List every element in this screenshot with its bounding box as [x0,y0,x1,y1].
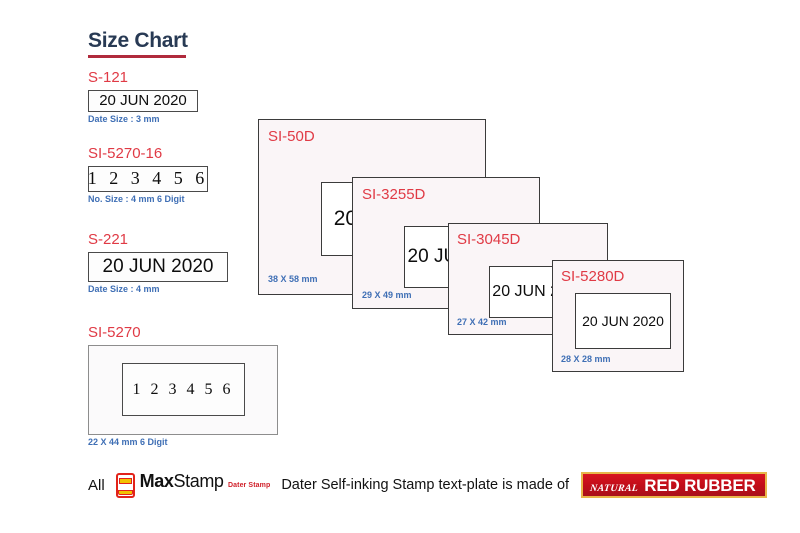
title-underline [88,55,186,58]
stamp-icon-base [118,490,133,495]
stamp-impression-s121: 20 JUN 2020 [88,90,198,112]
footer: All MaxStamp Dater Stamp Dater Self-inki… [88,468,767,502]
stamp-impression-si5270-16: 1 2 3 4 5 6 [88,166,208,192]
impression-text: 20 JUN 2020 [99,92,187,109]
page-title-block: Size Chart [88,30,188,58]
model-label-si5270: SI-5270 [88,325,278,342]
maxstamp-logo: MaxStamp Dater Stamp [116,472,271,498]
card-label-si5280d: SI-5280D [561,269,624,284]
stamp-plate-si5270: 1 2 3 4 5 6 [88,345,278,435]
maxstamp-name: MaxStamp [140,471,224,491]
brand-max: Max [140,471,174,491]
impression-text: 1 2 3 4 5 6 [88,168,209,189]
page-title: Size Chart [88,30,188,51]
size-note-s221: Date Size : 4 mm [88,284,228,294]
footer-prefix: All [88,477,105,494]
model-block-si5270: SI-5270 1 2 3 4 5 6 22 X 44 mm 6 Digit [88,325,278,447]
card-dimension-si3045d: 27 X 42 mm [457,317,507,327]
stamp-impression-si5270: 1 2 3 4 5 6 [122,363,245,416]
brand-stamp: Stamp [174,471,224,491]
red-rubber-banner: NATURAL RED RUBBER [581,472,767,498]
card-dimension-si3255d: 29 X 49 mm [362,290,412,300]
maxstamp-wordmark: MaxStamp Dater Stamp [140,472,271,492]
model-block-s121: S-121 20 JUN 2020 Date Size : 3 mm [88,70,198,124]
impression-text: 20 JUN 2020 [582,313,664,329]
model-block-si5270-16: SI-5270-16 1 2 3 4 5 6 No. Size : 4 mm 6… [88,146,208,204]
size-note-si5270: 22 X 44 mm 6 Digit [88,437,278,447]
stamp-icon-handle [119,478,132,484]
size-note-s121: Date Size : 3 mm [88,114,198,124]
brand-subtitle: Dater Stamp [228,482,270,489]
impression-text: 20 JUN 2020 [103,256,214,278]
card-label-si3045d: SI-3045D [457,232,520,247]
stamp-icon [116,473,135,498]
size-note-si5270-16: No. Size : 4 mm 6 Digit [88,194,208,204]
card-impression-si5280d: 20 JUN 2020 [575,293,671,349]
model-label-s221: S-221 [88,232,228,249]
card-dimension-si5280d: 28 X 28 mm [561,354,611,364]
banner-main-text: RED RUBBER [644,477,755,494]
model-block-s221: S-221 20 JUN 2020 Date Size : 4 mm [88,232,228,294]
model-label-si5270-16: SI-5270-16 [88,146,208,163]
banner-natural-text: NATURAL [589,483,638,494]
impression-text: 1 2 3 4 5 6 [133,381,234,399]
model-label-s121: S-121 [88,70,198,87]
footer-sentence: Dater Self-inking Stamp text-plate is ma… [281,477,569,493]
size-chart-page: Size Chart S-121 20 JUN 2020 Date Size :… [0,0,800,533]
card-dimension-si50d: 38 X 58 mm [268,274,318,284]
card-label-si50d: SI-50D [268,129,315,144]
stamp-card-si5280d: SI-5280D 20 JUN 2020 28 X 28 mm [552,260,684,372]
stamp-impression-s221: 20 JUN 2020 [88,252,228,282]
card-label-si3255d: SI-3255D [362,187,425,202]
